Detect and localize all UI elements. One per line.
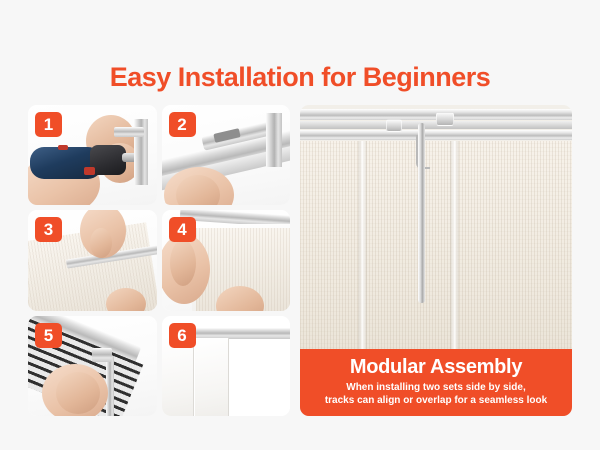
hero-carrier-clip-right xyxy=(436,112,454,126)
step-tile-4[interactable]: 4 xyxy=(162,210,291,310)
caption-title: Modular Assembly xyxy=(308,356,564,378)
hero-image[interactable]: Modular Assembly When installing two set… xyxy=(300,105,572,416)
hero-control-wand xyxy=(418,123,425,303)
step-tile-6[interactable]: 6 xyxy=(162,316,291,416)
step-tile-2[interactable]: 2 xyxy=(162,105,291,205)
steps-grid: 1 2 3 xyxy=(28,105,290,416)
step-tile-1[interactable]: 1 xyxy=(28,105,157,205)
step-badge-3: 3 xyxy=(35,217,62,242)
step-badge-1: 1 xyxy=(35,112,62,137)
caption-line-2: tracks can align or overlap for a seamle… xyxy=(308,394,564,407)
step-badge-5: 5 xyxy=(35,323,62,348)
step-tile-3[interactable]: 3 xyxy=(28,210,157,310)
step-badge-4: 4 xyxy=(169,217,196,242)
step-badge-6: 6 xyxy=(169,323,196,348)
page-title: Easy Installation for Beginners xyxy=(0,64,600,91)
caption-line-1: When installing two sets side by side, xyxy=(308,381,564,394)
content-area: 1 2 3 xyxy=(28,105,572,416)
step-tile-5[interactable]: 5 xyxy=(28,316,157,416)
hero-track-rail-bottom xyxy=(300,130,572,140)
hero-carrier-clip-left xyxy=(386,119,402,132)
hero-caption: Modular Assembly When installing two set… xyxy=(300,349,572,416)
step-badge-2: 2 xyxy=(169,112,196,137)
